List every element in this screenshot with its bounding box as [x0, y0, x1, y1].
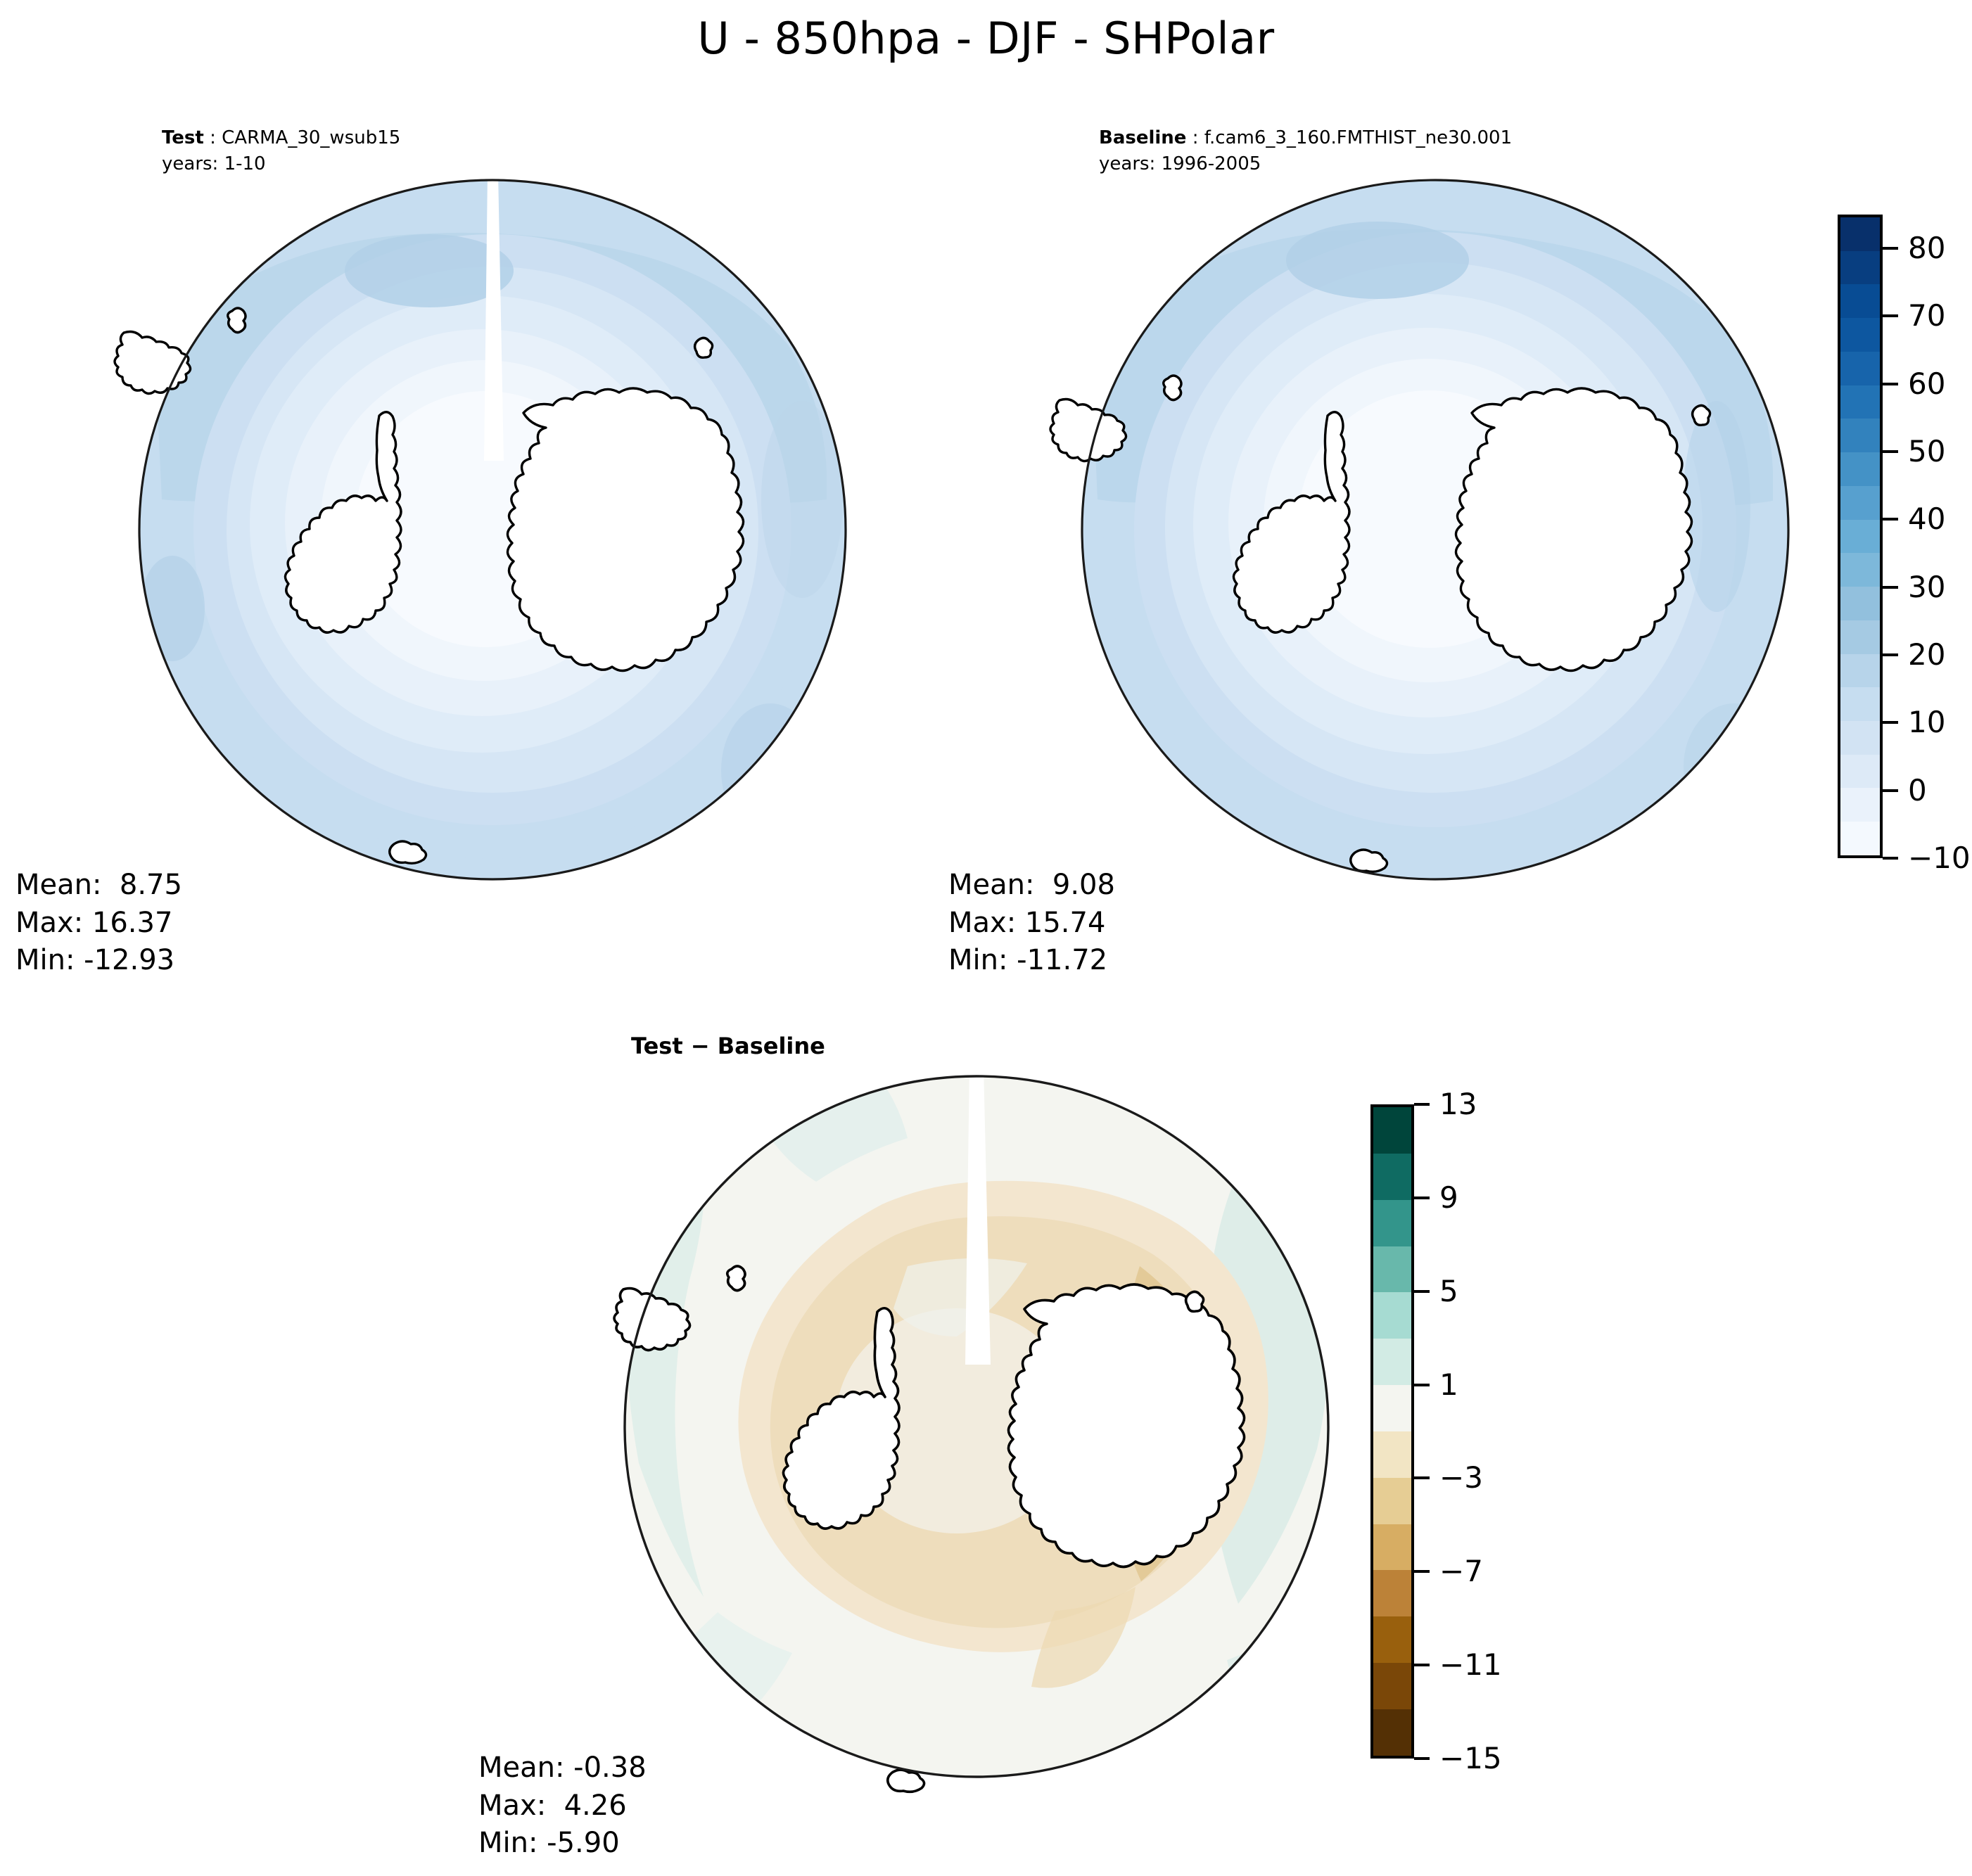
- difference-colorbar-tick-label: −11: [1439, 1650, 1502, 1680]
- difference-colorbar-tick-label: 13: [1439, 1090, 1477, 1119]
- main-colorbar-tick-label: 70: [1908, 301, 1945, 331]
- main-colorbar-tick-mark: [1883, 857, 1898, 860]
- difference-colorbar-tick-label: −15: [1439, 1744, 1502, 1773]
- main-colorbar-tick: 80: [1883, 234, 1945, 263]
- map-panel-difference: [605, 1055, 1351, 1801]
- difference-colorbar-tick-mark: [1414, 1476, 1430, 1479]
- main-colorbar-tick: 70: [1883, 301, 1945, 331]
- main-colorbar-tick-label: 30: [1908, 573, 1945, 602]
- difference-colorbar-tick-label: −3: [1439, 1463, 1483, 1493]
- main-colorbar-ticks: 80706050403020100−10: [1883, 215, 1971, 858]
- main-colorbar-band: [1840, 452, 1880, 486]
- main-colorbar-band: [1840, 587, 1880, 620]
- main-colorbar-tick: 20: [1883, 640, 1945, 670]
- main-colorbar-band: [1840, 385, 1880, 419]
- difference-colorbar-tick: −11: [1414, 1650, 1502, 1680]
- difference-colorbar-tick-mark: [1414, 1570, 1430, 1573]
- main-colorbar-tick-label: −10: [1908, 843, 1971, 873]
- main-colorbar-tick-label: 40: [1908, 504, 1945, 534]
- main-colorbar-tick: 10: [1883, 708, 1945, 737]
- main-colorbar[interactable]: 80706050403020100−10: [1838, 215, 1971, 858]
- difference-colorbar-band: [1373, 1663, 1411, 1709]
- main-colorbar-tick-mark: [1883, 653, 1898, 656]
- difference-colorbar-band: [1373, 1107, 1411, 1154]
- figure-title: U - 850hpa - DJF - SHPolar: [0, 13, 1972, 64]
- difference-colorbar-band: [1373, 1431, 1411, 1478]
- main-colorbar-tick: 40: [1883, 504, 1945, 534]
- difference-colorbar-tick-mark: [1414, 1197, 1430, 1199]
- difference-colorbar-band: [1373, 1478, 1411, 1524]
- difference-colorbar-band: [1373, 1200, 1411, 1246]
- difference-colorbar-tick: −7: [1414, 1557, 1483, 1586]
- difference-colorbar-band: [1373, 1246, 1411, 1293]
- main-colorbar-tick-mark: [1883, 383, 1898, 385]
- main-colorbar-band: [1840, 217, 1880, 251]
- baseline-header-sep: :: [1186, 127, 1204, 148]
- test-stats: Mean: 8.75 Max: 16.37 Min: -12.93: [15, 867, 182, 980]
- main-colorbar-band: [1840, 486, 1880, 520]
- main-colorbar-tick-label: 60: [1908, 369, 1945, 399]
- difference-colorbar-tick-label: 1: [1439, 1370, 1458, 1400]
- baseline-header-value: f.cam6_3_160.FMTHIST_ne30.001: [1204, 127, 1512, 148]
- main-colorbar-tick-label: 80: [1908, 234, 1945, 263]
- difference-colorbar-tick-mark: [1414, 1664, 1430, 1666]
- difference-colorbar-tick-mark: [1414, 1384, 1430, 1386]
- difference-colorbar-tick-mark: [1414, 1290, 1430, 1293]
- difference-colorbar-tick: 9: [1414, 1183, 1458, 1213]
- test-header-key: Test: [162, 127, 204, 148]
- map-panel-test: [98, 169, 886, 900]
- difference-colorbar-tick: 5: [1414, 1277, 1458, 1306]
- main-colorbar-tick: −10: [1883, 843, 1971, 873]
- main-colorbar-band: [1840, 251, 1880, 285]
- main-colorbar-tick: 30: [1883, 573, 1945, 602]
- difference-colorbar-tick: −15: [1414, 1744, 1502, 1773]
- difference-colorbar-tick-label: −7: [1439, 1557, 1483, 1586]
- main-colorbar-band: [1840, 620, 1880, 654]
- main-colorbar-band: [1840, 755, 1880, 789]
- main-colorbar-band: [1840, 721, 1880, 755]
- difference-colorbar-band: [1373, 1524, 1411, 1571]
- main-colorbar-tick: 50: [1883, 437, 1945, 466]
- difference-colorbar-ticks: 13951−3−7−11−15: [1414, 1104, 1511, 1759]
- baseline-header-key: Baseline: [1099, 127, 1186, 148]
- difference-stats: Mean: -0.38 Max: 4.26 Min: -5.90: [478, 1749, 647, 1863]
- main-colorbar-tick-mark: [1883, 586, 1898, 589]
- difference-colorbar-tick: 1: [1414, 1370, 1458, 1400]
- main-colorbar-band: [1840, 654, 1880, 688]
- difference-colorbar-tick-label: 9: [1439, 1183, 1458, 1213]
- main-colorbar-tick: 0: [1883, 776, 1927, 805]
- main-colorbar-band: [1840, 520, 1880, 554]
- main-colorbar-band: [1840, 419, 1880, 452]
- main-colorbar-tick: 60: [1883, 369, 1945, 399]
- difference-colorbar-strip: [1370, 1104, 1414, 1759]
- main-colorbar-band: [1840, 687, 1880, 721]
- difference-colorbar-tick: −3: [1414, 1463, 1483, 1493]
- main-colorbar-band: [1840, 788, 1880, 822]
- main-colorbar-tick-mark: [1883, 789, 1898, 792]
- difference-colorbar-tick: 13: [1414, 1090, 1477, 1119]
- difference-colorbar[interactable]: 13951−3−7−11−15: [1370, 1104, 1511, 1759]
- main-colorbar-tick-label: 10: [1908, 708, 1945, 737]
- difference-colorbar-tick-mark: [1414, 1757, 1430, 1760]
- difference-colorbar-band: [1373, 1292, 1411, 1339]
- main-colorbar-band: [1840, 284, 1880, 318]
- difference-colorbar-band: [1373, 1385, 1411, 1431]
- main-colorbar-tick-label: 0: [1908, 776, 1927, 805]
- difference-colorbar-band: [1373, 1339, 1411, 1385]
- main-colorbar-tick-label: 20: [1908, 640, 1945, 670]
- difference-colorbar-band: [1373, 1570, 1411, 1616]
- test-header-sep: :: [204, 127, 222, 148]
- difference-colorbar-band: [1373, 1154, 1411, 1200]
- main-colorbar-band: [1840, 318, 1880, 352]
- main-colorbar-tick-mark: [1883, 518, 1898, 521]
- difference-colorbar-tick-label: 5: [1439, 1277, 1458, 1306]
- main-colorbar-tick-mark: [1883, 247, 1898, 250]
- main-colorbar-tick-mark: [1883, 721, 1898, 724]
- main-colorbar-band: [1840, 553, 1880, 587]
- map-panel-baseline: [1041, 169, 1829, 900]
- difference-colorbar-tick-mark: [1414, 1103, 1430, 1106]
- main-colorbar-tick-mark: [1883, 450, 1898, 453]
- difference-colorbar-band: [1373, 1616, 1411, 1663]
- main-colorbar-strip: [1838, 215, 1883, 858]
- main-colorbar-tick-mark: [1883, 314, 1898, 317]
- difference-colorbar-band: [1373, 1709, 1411, 1756]
- main-colorbar-band: [1840, 352, 1880, 385]
- main-colorbar-band: [1840, 822, 1880, 855]
- baseline-stats: Mean: 9.08 Max: 15.74 Min: -11.72: [948, 867, 1115, 980]
- test-header-value: CARMA_30_wsub15: [222, 127, 400, 148]
- main-colorbar-tick-label: 50: [1908, 437, 1945, 466]
